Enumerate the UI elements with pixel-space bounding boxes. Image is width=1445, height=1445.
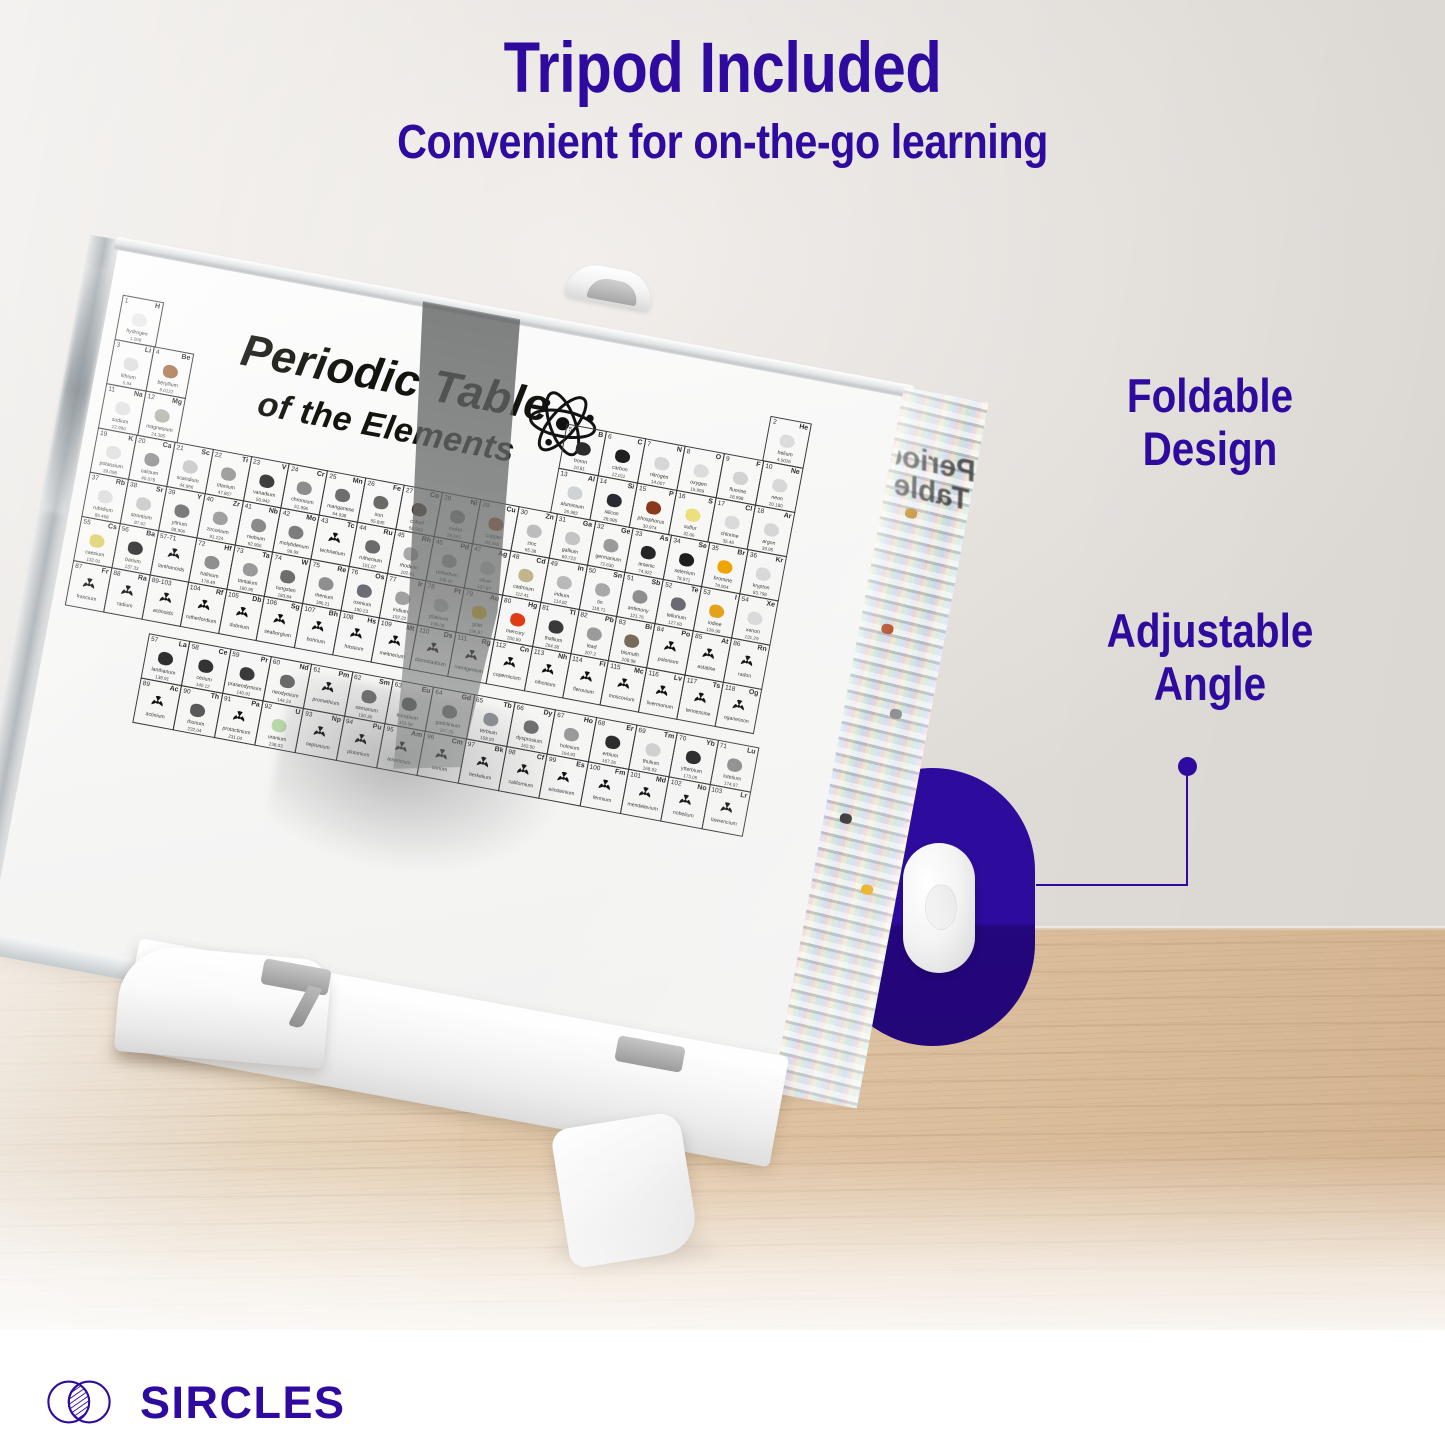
atomic-number: 83 (618, 618, 626, 626)
atomic-number: 18 (756, 507, 764, 515)
element-sample (105, 445, 122, 461)
element-sample (726, 757, 743, 773)
atomic-number: 12 (147, 393, 155, 401)
atomic-number: 84 (656, 626, 664, 634)
element-symbol: Se (698, 542, 708, 550)
element-name: actinium (135, 709, 176, 722)
element-symbol: Ga (582, 520, 592, 529)
radioactive-icon (385, 632, 405, 651)
element-sample (594, 582, 611, 598)
element-sample (632, 589, 649, 605)
element-sample (334, 487, 351, 503)
atomic-number: 76 (350, 568, 358, 576)
element-sample (585, 626, 602, 642)
callout-angle-line2: Angle (1064, 658, 1356, 711)
element-name: fermium (582, 793, 623, 806)
atomic-number: 25 (329, 473, 337, 481)
element-symbol: Sr (155, 486, 164, 494)
element-sample (602, 538, 619, 554)
element-symbol: Mc (633, 667, 644, 676)
atomic-number: 74 (274, 554, 282, 562)
element-sample (356, 583, 373, 599)
radioactive-icon (595, 776, 615, 795)
element-sample (653, 456, 670, 472)
element-symbol: Os (374, 573, 384, 582)
atomic-number: 32 (596, 523, 604, 531)
radioactive-icon (308, 618, 328, 637)
callout-foldable-line2: Design (1068, 423, 1352, 476)
element-sample (241, 562, 258, 578)
atomic-number: 72 (197, 540, 205, 548)
element-symbol: Tl (569, 609, 576, 617)
element-symbol: Hg (527, 602, 537, 611)
element-sample (526, 523, 543, 539)
element-symbol: Ne (790, 468, 800, 477)
element-sample (239, 666, 256, 682)
atomic-number: 33 (635, 530, 643, 538)
atomic-number: 69 (638, 727, 646, 735)
radioactive-icon (661, 638, 681, 657)
element-symbol: K (128, 435, 134, 443)
element-symbol: Hf (224, 545, 233, 553)
element-name: oganesson (717, 713, 755, 726)
element-symbol: Th (210, 693, 220, 701)
element-symbol: Og (748, 689, 759, 698)
element-name: polonium (649, 655, 687, 668)
atomic-number: 20 (138, 437, 146, 445)
atomic-number: 116 (648, 670, 659, 679)
radioactive-icon (717, 799, 737, 818)
element-symbol: Y (196, 494, 202, 502)
element-sample (182, 459, 199, 475)
atomic-number: 19 (99, 430, 107, 438)
callout-angle-line1: Adjustable (1064, 605, 1356, 658)
atomic-number: 85 (694, 633, 702, 641)
headline-subtitle: Convenient for on-the-go learning (101, 118, 1344, 168)
element-symbol: Cd (536, 557, 546, 566)
element-symbol: Mn (352, 477, 363, 486)
brand-logo: SIRCLES (40, 1378, 346, 1426)
element-sample (89, 533, 106, 549)
element-sample (517, 567, 534, 583)
atomic-number: 11 (108, 386, 116, 394)
element-name: technetium (313, 546, 351, 559)
product-image-stage: Tripod Included Convenient for on-the-go… (0, 0, 1445, 1445)
element-sample (678, 552, 695, 568)
atomic-number: 4 (155, 349, 160, 357)
atomic-number: 90 (183, 688, 191, 696)
element-name: radon (725, 669, 763, 682)
element-sample (296, 480, 313, 496)
element-symbol: P (668, 491, 674, 499)
element-symbol: Ti (241, 456, 248, 464)
element-symbol: Na (133, 390, 143, 399)
element-symbol: H (154, 303, 160, 311)
atomic-number: 80 (503, 597, 511, 605)
atomic-number: 49 (550, 560, 558, 568)
element-symbol: Po (681, 630, 691, 639)
atomic-number: 75 (312, 561, 320, 569)
element-name: copernicium (488, 670, 526, 683)
atomic-number: 107 (304, 605, 316, 614)
element-sample (220, 466, 237, 482)
element-sample (114, 400, 131, 416)
element-symbol: He (799, 423, 809, 432)
element-name: mendelevium (622, 800, 663, 813)
element-symbol: Lv (673, 675, 682, 683)
atomic-number: 105 (227, 591, 239, 600)
atomic-number: 56 (121, 525, 129, 533)
element-sample (723, 514, 740, 530)
element-cell: 103Lrlawrencium (701, 784, 751, 837)
callout-leader-vertical (1186, 772, 1188, 886)
atomic-number: 88 (113, 570, 121, 578)
element-name: francium (67, 592, 105, 605)
two-overlapping-circles-icon (40, 1378, 118, 1426)
element-sample (624, 633, 641, 649)
element-sample (605, 492, 622, 508)
element-sample (564, 530, 581, 546)
atomic-number: 31 (558, 516, 566, 524)
element-symbol: In (577, 565, 584, 573)
element-sample (162, 364, 179, 380)
atomic-number: 37 (91, 474, 99, 482)
element-symbol: Pa (251, 700, 261, 708)
atomic-number: 5 (568, 426, 573, 434)
element-symbol: Xe (766, 600, 776, 608)
atomic-number: 71 (719, 742, 727, 750)
element-symbol: N (676, 446, 682, 454)
atomic-number: 117 (686, 677, 697, 686)
element-symbol: Cl (745, 505, 753, 513)
atomic-number: 36 (749, 551, 757, 559)
atomic-number: 3 (116, 341, 121, 349)
atomic-number: 54 (741, 596, 749, 604)
callout-foldable-design: Foldable Design (1068, 370, 1352, 475)
atomic-number: 7 (647, 441, 652, 449)
element-sample (556, 575, 573, 591)
element-symbol: Er (626, 725, 635, 733)
element-symbol: Ge (620, 527, 630, 536)
atomic-number: 100 (589, 764, 601, 773)
element-name: radium (105, 599, 143, 612)
atomic-number: 57 (150, 636, 158, 644)
atomic-number: 89 (142, 680, 150, 688)
radioactive-icon (614, 675, 634, 694)
atomic-number: 24 (290, 466, 298, 474)
atomic-number: 35 (711, 544, 719, 552)
radioactive-icon (729, 697, 749, 716)
element-symbol: Kr (775, 556, 784, 564)
atomic-number: 112 (495, 641, 506, 650)
atomic-number: 34 (673, 537, 681, 545)
atomic-number: 6 (607, 433, 612, 441)
element-symbol: Fe (392, 485, 401, 493)
element-symbol: Si (627, 483, 635, 491)
radioactive-icon (270, 611, 290, 630)
atomic-number: 118 (724, 684, 735, 693)
element-symbol: Tc (346, 522, 355, 530)
element-symbol: Tm (663, 732, 675, 741)
element-symbol: Ca (162, 442, 172, 451)
element-name: dubnium (220, 620, 258, 633)
element-symbol: O (715, 454, 722, 462)
element-symbol: Ta (261, 552, 270, 560)
element-symbol: Sn (613, 572, 623, 581)
callout-foldable-line1: Foldable (1068, 370, 1352, 423)
atomic-number: 40 (206, 496, 214, 504)
element-sample (97, 489, 114, 505)
element-symbol: Md (655, 776, 666, 785)
element-sample (771, 478, 788, 494)
element-symbol: F (755, 461, 760, 469)
element-sample (692, 463, 709, 479)
radioactive-icon (325, 530, 345, 549)
element-sample (173, 503, 190, 519)
element-symbol: Sc (201, 449, 211, 457)
atomic-number: 42 (282, 510, 290, 518)
atomic-number: 59 (232, 651, 240, 659)
element-symbol: Be (181, 354, 191, 363)
element-symbol: Yb (705, 740, 715, 749)
element-sample (684, 507, 701, 523)
brand-name: SIRCLES (140, 1380, 346, 1425)
atomic-number: 45 (397, 531, 405, 539)
element-symbol: Nb (268, 507, 278, 516)
atomic-number: 53 (703, 589, 711, 597)
element-symbol: Cr (316, 470, 325, 478)
element-symbol: At (720, 638, 729, 646)
element-sample (153, 408, 170, 424)
radioactive-icon (232, 604, 252, 623)
radioactive-icon (156, 589, 176, 608)
element-symbol: Pr (260, 656, 269, 664)
radioactive-icon (79, 575, 99, 594)
element-symbol: C (637, 439, 643, 447)
atomic-number: 17 (717, 500, 725, 508)
element-symbol: Sb (651, 579, 661, 588)
atomic-number: 27 (405, 487, 413, 495)
element-name: lanthanoids (152, 562, 190, 575)
element-sample (211, 510, 228, 526)
element-symbol: Mg (171, 398, 182, 407)
element-name: astatine (687, 662, 725, 675)
element-name: tennessine (679, 706, 717, 719)
element-symbol: Te (690, 586, 699, 594)
atomic-number: 89-103 (151, 577, 172, 588)
element-name: livermorium (641, 699, 679, 712)
element-sample (670, 596, 687, 612)
atomic-number: 101 (630, 771, 642, 780)
element-sample (157, 651, 174, 667)
atomic-number: 114 (571, 656, 582, 665)
element-symbol: Fm (614, 768, 626, 777)
element-symbol: Pb (604, 616, 614, 625)
element-symbol: I (734, 594, 737, 601)
element-symbol: Ra (137, 574, 147, 583)
radioactive-icon (164, 545, 184, 564)
element-sample (364, 539, 381, 555)
element-symbol: B (597, 432, 603, 440)
element-sample (250, 517, 267, 533)
atomic-number: 109 (380, 620, 392, 629)
element-symbol: Mo (306, 514, 317, 523)
element-sample (755, 566, 772, 582)
element-symbol: Hs (367, 617, 377, 626)
element-name: actinoids (144, 606, 182, 619)
element-symbol: Lr (740, 792, 748, 800)
element-symbol: Cn (519, 646, 529, 655)
atomic-number: 104 (189, 584, 201, 593)
atomic-number: 44 (359, 524, 367, 532)
element-sample (280, 569, 297, 585)
atomic-number: 48 (512, 553, 520, 561)
element-sample (127, 540, 144, 556)
element-symbol: Ru (383, 529, 393, 538)
element-symbol: S (708, 498, 714, 506)
element-symbol: Fl (599, 661, 606, 669)
radioactive-icon (737, 653, 757, 672)
element-symbol: Ho (583, 717, 593, 726)
atomic-number: 57-71 (159, 533, 177, 543)
element-name: rutherfordium (182, 613, 220, 626)
radioactive-icon (635, 784, 655, 803)
atomic-number: 23 (252, 458, 260, 466)
element-symbol: Ts (712, 682, 721, 690)
element-sample (763, 522, 780, 538)
atomic-number: 81 (541, 604, 549, 612)
element-sample (143, 452, 160, 468)
atomic-number: 92 (264, 703, 272, 711)
radioactive-icon (500, 654, 520, 673)
element-symbol: Rn (757, 644, 767, 653)
radioactive-icon (652, 682, 672, 701)
element-symbol: La (178, 641, 187, 649)
element-sample (685, 750, 702, 766)
element-symbol: Ba (146, 530, 156, 539)
element-sample (288, 525, 305, 541)
element-symbol: Lu (746, 747, 756, 755)
element-sample (131, 312, 148, 328)
element-sample (732, 470, 749, 486)
element-name: seaborgium (258, 627, 296, 640)
atomic-number: 87 (74, 563, 82, 571)
element-sample (614, 448, 631, 464)
atomic-number: 60 (272, 659, 280, 667)
element-name: lawrencium (703, 816, 744, 829)
atomic-number: 1 (124, 297, 129, 305)
atomic-number: 55 (83, 518, 91, 526)
element-symbol: Nh (557, 653, 567, 662)
element-sample (574, 441, 591, 457)
radioactive-icon (347, 625, 367, 644)
atomic-number: 82 (580, 611, 588, 619)
element-sample (717, 559, 734, 575)
element-name: nihonium (526, 678, 564, 691)
element-sample (547, 619, 564, 635)
element-symbol: Bh (328, 610, 338, 619)
element-sample (373, 495, 390, 511)
element-symbol: No (697, 784, 707, 793)
element-sample (645, 500, 662, 516)
radioactive-icon (676, 792, 696, 811)
element-symbol: Es (576, 761, 586, 769)
element-name: flerovium (564, 685, 602, 698)
atomic-number: 102 (670, 779, 682, 788)
element-sample (566, 485, 583, 501)
element-sample (135, 496, 152, 512)
headline-title: Tripod Included (116, 34, 1330, 104)
element-name: bohrium (297, 635, 335, 648)
atomic-number: 70 (678, 735, 686, 743)
radioactive-icon (229, 708, 249, 727)
atomic-number: 2 (772, 418, 777, 426)
element-sample (190, 703, 207, 719)
element-sample (509, 612, 526, 628)
element-sample (645, 742, 662, 758)
atomic-number: 15 (638, 485, 646, 493)
atomic-number: 68 (597, 719, 605, 727)
element-symbol: Fr (101, 568, 109, 576)
atomic-number: 106 (266, 598, 278, 607)
element-symbol: Al (587, 475, 595, 483)
atomic-number: 115 (610, 663, 621, 672)
atomic-number: 21 (176, 444, 184, 452)
callout-leader-dot (1178, 757, 1197, 776)
atomic-number: 86 (733, 640, 741, 648)
radioactive-icon (691, 690, 711, 709)
radioactive-icon (576, 668, 596, 687)
atomic-number: 113 (533, 648, 544, 657)
callout-leader-horizontal (1036, 884, 1188, 886)
atomic-number: 8 (686, 448, 691, 456)
element-sample (708, 603, 725, 619)
atomic-number: 91 (223, 695, 231, 703)
atomic-number: 41 (244, 503, 252, 511)
radioactive-icon (699, 645, 719, 664)
radioactive-icon (148, 693, 168, 712)
element-symbol: V (281, 464, 287, 472)
atomic-number: 38 (129, 481, 137, 489)
element-symbol: Rb (115, 479, 125, 488)
atomic-number: 108 (342, 613, 354, 622)
atomic-number: 43 (320, 517, 328, 525)
atomic-number: 26 (367, 480, 375, 488)
element-symbol: Zr (232, 501, 240, 509)
element-symbol: Cu (506, 506, 516, 515)
callout-adjustable-angle: Adjustable Angle (1064, 605, 1356, 710)
atomic-number: 58 (191, 643, 199, 651)
element-sample (604, 734, 621, 750)
element-symbol: Li (144, 347, 151, 355)
element-sample (258, 473, 275, 489)
element-symbol: Ar (783, 512, 792, 520)
element-symbol: Ce (218, 648, 228, 657)
element-symbol: Bi (644, 623, 652, 631)
atomic-number: 51 (626, 574, 634, 582)
element-name: nobelium (663, 808, 704, 821)
element-symbol: W (301, 559, 309, 567)
element-sample (203, 554, 220, 570)
element-symbol: Cs (107, 523, 117, 532)
element-sample (318, 576, 335, 592)
element-sample (747, 610, 764, 626)
atomic-number: 9 (725, 455, 730, 463)
radioactive-icon (194, 597, 214, 616)
element-symbol: Db (252, 596, 262, 605)
element-sample (198, 658, 215, 674)
atomic-number: 10 (765, 463, 773, 471)
